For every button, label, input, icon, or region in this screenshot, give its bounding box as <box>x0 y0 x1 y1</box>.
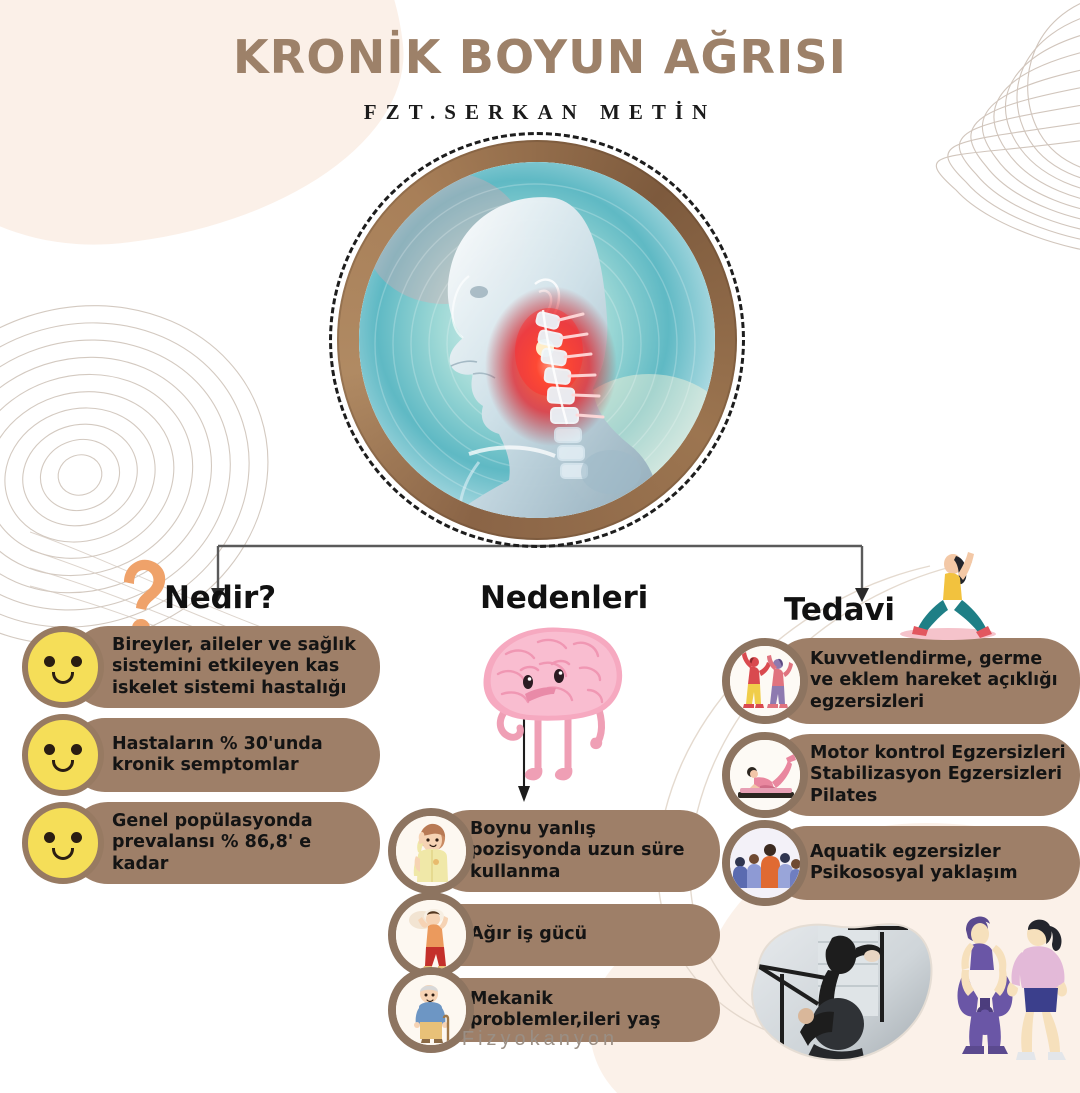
pilates-pose-icon <box>722 732 808 818</box>
column-nedir: Nedir? Bireyler, aileler ve sağlık siste… <box>22 580 402 884</box>
heavy-lifting-worker-icon <box>388 892 474 978</box>
info-pill-text: Genel popülasyonda prevalansı % 86,8' e … <box>112 811 366 875</box>
treatment-photo-collage <box>722 912 1080 1084</box>
neck-pain-anatomy-illustration <box>359 162 715 518</box>
page-header: KRONİK BOYUN AĞRISI FZT.SERKAN METİN <box>0 34 1080 125</box>
info-pill-text: Kuvvetlendirme, germe ve eklem hareket a… <box>810 649 1068 713</box>
info-pill[interactable]: Bireyler, aileler ve sağlık sistemini et… <box>68 626 380 708</box>
page-title: KRONİK BOYUN AĞRISI <box>0 34 1080 80</box>
pilates-studio-photo <box>742 912 942 1084</box>
hero-image-frame <box>359 162 715 518</box>
column-heading-nedir: Nedir? <box>164 580 402 616</box>
list-item[interactable]: Aquatik egzersizler Psikososyal yaklaşım <box>722 826 1080 900</box>
list-item[interactable]: Kuvvetlendirme, germe ve eklem hareket a… <box>722 638 1080 724</box>
list-item[interactable]: Boynu yanlış pozisyonda uzun süre kullan… <box>388 810 730 892</box>
info-pill[interactable]: Kuvvetlendirme, germe ve eklem hareket a… <box>770 638 1080 724</box>
list-item[interactable]: Motor kontrol Egzersizleri Stabilizasyon… <box>722 734 1080 816</box>
stretching-people-icon <box>722 638 808 724</box>
list-item[interactable]: Genel popülasyonda prevalansı % 86,8' e … <box>22 802 380 884</box>
list-item[interactable]: Hastaların % 30'unda kronik semptomlar <box>22 718 380 792</box>
infographic-page: KRONİK BOYUN AĞRISI FZT.SERKAN METİN <box>0 0 1080 1093</box>
list-item[interactable]: Bireyler, aileler ve sağlık sistemini et… <box>22 626 380 708</box>
info-pill-text: Boynu yanlış pozisyonda uzun süre kullan… <box>470 819 708 883</box>
info-pill[interactable]: Genel popülasyonda prevalansı % 86,8' e … <box>68 802 380 884</box>
info-pill[interactable]: Aquatik egzersizler Psikososyal yaklaşım <box>770 826 1080 900</box>
info-pill-text: Mekanik problemler,ileri yaş <box>470 989 708 1032</box>
info-pill-text: Hastaların % 30'unda kronik semptomlar <box>112 734 366 777</box>
column-heading-nedenleri: Nedenleri <box>480 580 738 616</box>
cartoon-brain-icon <box>388 618 738 798</box>
woman-pointing-icon <box>388 808 474 894</box>
smiley-face-icon <box>22 626 104 708</box>
info-pill[interactable]: Motor kontrol Egzersizleri Stabilizasyon… <box>770 734 1080 816</box>
info-pill-text: Aquatik egzersizler Psikososyal yaklaşım <box>810 842 1068 885</box>
yoga-lunge-icon <box>890 548 998 644</box>
smiley-face-icon <box>22 802 104 884</box>
group-of-people-icon <box>722 820 808 906</box>
watermark: Fizyokanyon <box>0 1028 1080 1051</box>
info-pill[interactable]: Hastaların % 30'unda kronik semptomlar <box>68 718 380 792</box>
info-pill-text: Ağır iş gücü <box>470 924 587 945</box>
smiley-face-icon <box>22 714 104 796</box>
info-pill-text: Bireyler, aileler ve sağlık sistemini et… <box>112 635 366 699</box>
list-item[interactable]: Ağır iş gücü <box>388 904 730 966</box>
column-nedenleri: Nedenleri <box>388 580 738 1042</box>
hero-image <box>337 140 737 540</box>
info-pill-text: Motor kontrol Egzersizleri Stabilizasyon… <box>810 743 1068 807</box>
author-subtitle: FZT.SERKAN METİN <box>0 100 1080 125</box>
